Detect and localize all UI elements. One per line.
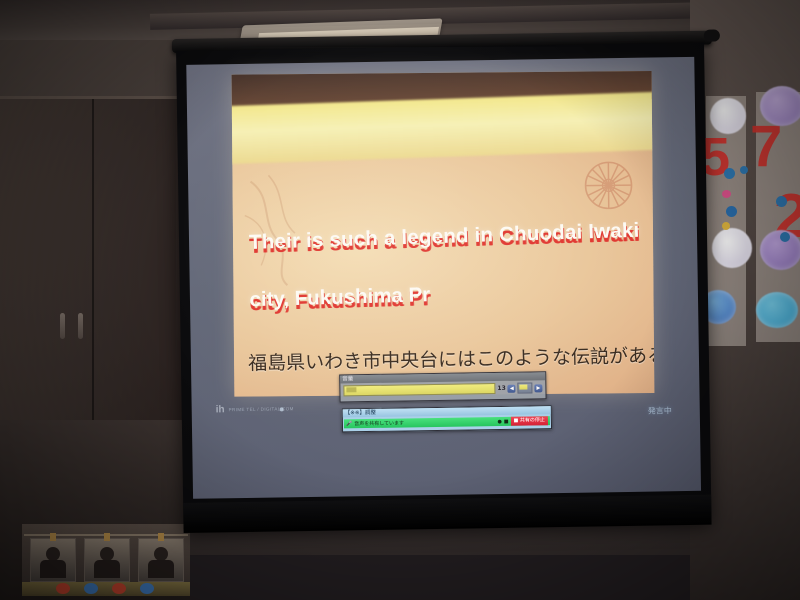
compass-rose-icon (582, 159, 634, 211)
screen-surface: Their is such a legend in Chuodai Iwaki … (186, 57, 701, 499)
paper-blob-2 (84, 583, 98, 594)
flake-icon-4 (726, 206, 737, 217)
volume-value: 13 (497, 385, 505, 392)
screen-share-dialog[interactable]: 【※※】調整 🎤 音声を共有しています ● ■ ■ 共有の停止 (342, 405, 552, 432)
numeral-cutout-7: 7 (750, 118, 782, 176)
flake-icon-3 (722, 190, 731, 198)
share-status-text: 音声を共有しています (354, 418, 495, 427)
brand-text: PRIME TEL / DIGITAL COM (229, 406, 294, 412)
photo-scene: 5 7 2 (0, 0, 800, 600)
status-badge: 発言中 (648, 405, 672, 416)
volume-dialog[interactable]: 音量 13 ◀ ▶ (339, 371, 546, 402)
speaker-icon[interactable]: ● (497, 418, 501, 424)
volume-slider-grip[interactable] (346, 387, 356, 392)
list-item (84, 538, 130, 582)
flake-icon-2 (740, 166, 748, 174)
pom-pom-blue-2 (756, 292, 798, 328)
screen-bottom-rail (183, 495, 711, 533)
paper-blob-4 (140, 583, 154, 594)
screen-frame: Their is such a legend in Chuodai Iwaki … (176, 43, 711, 529)
volume-decrease-button[interactable]: ◀ (508, 384, 516, 392)
paper-blob-1 (56, 583, 70, 594)
mic-icon: 🎤 (346, 421, 352, 427)
camera-icon[interactable]: ■ (504, 418, 509, 424)
board-strip (22, 582, 190, 596)
slide-headline-line-2: city, Fukushima Pr (249, 283, 430, 312)
flake-icon-5 (722, 222, 730, 230)
projector-screen: Their is such a legend in Chuodai Iwaki … (176, 39, 716, 539)
flake-icon-6 (776, 196, 787, 207)
presentation-slide: Their is such a legend in Chuodai Iwaki … (232, 71, 655, 397)
paper-blob-3 (112, 583, 126, 594)
flake-icon-1 (724, 168, 735, 179)
volume-increase-button[interactable]: ▶ (534, 384, 542, 392)
volume-slider[interactable] (343, 383, 495, 396)
taskbar-indicator-dot (280, 407, 284, 411)
wall-cabinet[interactable] (0, 96, 186, 429)
flake-icon-7 (780, 232, 790, 242)
roller-knob[interactable] (704, 29, 720, 41)
brand-mark: ih (216, 404, 225, 415)
pom-pom-white-1 (710, 98, 746, 134)
list-item (138, 538, 184, 582)
volume-meter[interactable] (518, 382, 533, 393)
stop-sharing-button[interactable]: ■ 共有の停止 (511, 416, 548, 426)
pom-pom-purple-1 (760, 86, 800, 126)
pom-pom-white-2 (712, 228, 752, 268)
list-item (30, 538, 76, 582)
